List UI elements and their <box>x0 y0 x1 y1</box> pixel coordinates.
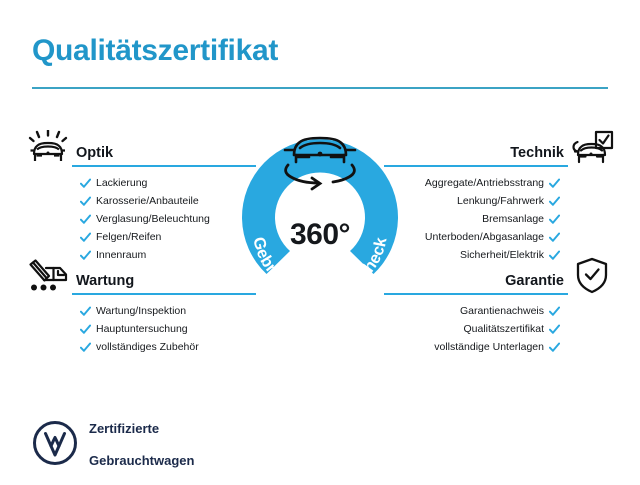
vw-line-2: Gebrauchtwagen <box>89 453 194 469</box>
vw-footer: Zertifizierte Gebrauchtwagen <box>32 405 194 485</box>
check-icon <box>80 178 91 189</box>
list-item-label: Garantienachweis <box>460 303 544 319</box>
section-optik-list: Lackierung Karosserie/Anbauteile Verglas… <box>24 174 256 264</box>
section-optik-header: Optik <box>24 128 256 168</box>
check-icon <box>549 214 560 225</box>
shield-check-icon <box>568 256 616 296</box>
list-item-label: Verglasung/Beleuchtung <box>96 211 210 227</box>
car-checkbox-icon <box>568 128 616 168</box>
car-service-pen-icon <box>24 256 72 296</box>
list-item-label: Lackierung <box>96 175 147 191</box>
section-optik: Optik Lackierung Karosserie/Anbauteile V… <box>24 128 256 264</box>
page-title: Qualitätszertifikat <box>32 34 278 68</box>
check-icon <box>80 342 91 353</box>
section-wartung-header: Wartung <box>24 256 256 296</box>
check-icon <box>549 178 560 189</box>
vw-line-1: Zertifizierte <box>89 421 194 437</box>
list-item-label: Bremsanlage <box>482 211 544 227</box>
check-icon <box>549 324 560 335</box>
list-item-label: Hauptuntersuchung <box>96 321 188 337</box>
check-icon <box>549 232 560 243</box>
list-item: vollständiges Zubehör <box>80 338 256 356</box>
section-wartung: Wartung Wartung/Inspektion Hauptuntersuc… <box>24 256 256 356</box>
badge-360-gebrauchtwagen-check: Gebrauchtwagen-Check 360° <box>228 122 412 318</box>
check-icon <box>80 324 91 335</box>
list-item-label: Qualitätszertifikat <box>463 321 544 337</box>
list-item-label: Lenkung/Fahrwerk <box>457 193 544 209</box>
section-technik-list: Aggregate/Antriebsstrang Lenkung/Fahrwer… <box>384 174 616 264</box>
vw-wordmark: Zertifizierte Gebrauchtwagen <box>89 405 194 485</box>
list-item-label: vollständiges Zubehör <box>96 339 199 355</box>
section-technik-header: Technik <box>384 128 616 168</box>
badge-degrees: 360° <box>228 218 412 252</box>
list-item-label: vollständige Unterlagen <box>434 339 544 355</box>
check-icon <box>80 214 91 225</box>
section-wartung-list: Wartung/Inspektion Hauptuntersuchung vol… <box>24 302 256 356</box>
list-item: Hauptuntersuchung <box>80 320 256 338</box>
vw-logo <box>32 420 78 471</box>
section-technik: Technik Aggregate/Antriebsstrang Lenkung… <box>384 128 616 264</box>
list-item-label: Felgen/Reifen <box>96 229 161 245</box>
list-item-label: Wartung/Inspektion <box>96 303 186 319</box>
section-garantie-header: Garantie <box>384 256 616 296</box>
section-garantie: Garantie Garantienachweis Qualitätszerti… <box>384 256 616 356</box>
check-icon <box>549 196 560 207</box>
list-item-label: Unterboden/Abgasanlage <box>425 229 544 245</box>
check-icon <box>80 196 91 207</box>
list-item: vollständige Unterlagen <box>384 338 560 356</box>
check-icon <box>549 306 560 317</box>
check-icon <box>549 342 560 353</box>
car-shine-icon <box>24 128 72 168</box>
section-garantie-list: Garantienachweis Qualitätszertifikat vol… <box>384 302 616 356</box>
title-divider <box>32 87 608 89</box>
list-item-label: Karosserie/Anbauteile <box>96 193 199 209</box>
list-item-label: Aggregate/Antriebsstrang <box>425 175 544 191</box>
check-icon <box>80 306 91 317</box>
certificate-page: Qualitätszertifikat <box>0 0 640 480</box>
list-item: Qualitätszertifikat <box>384 320 560 338</box>
check-icon <box>80 232 91 243</box>
